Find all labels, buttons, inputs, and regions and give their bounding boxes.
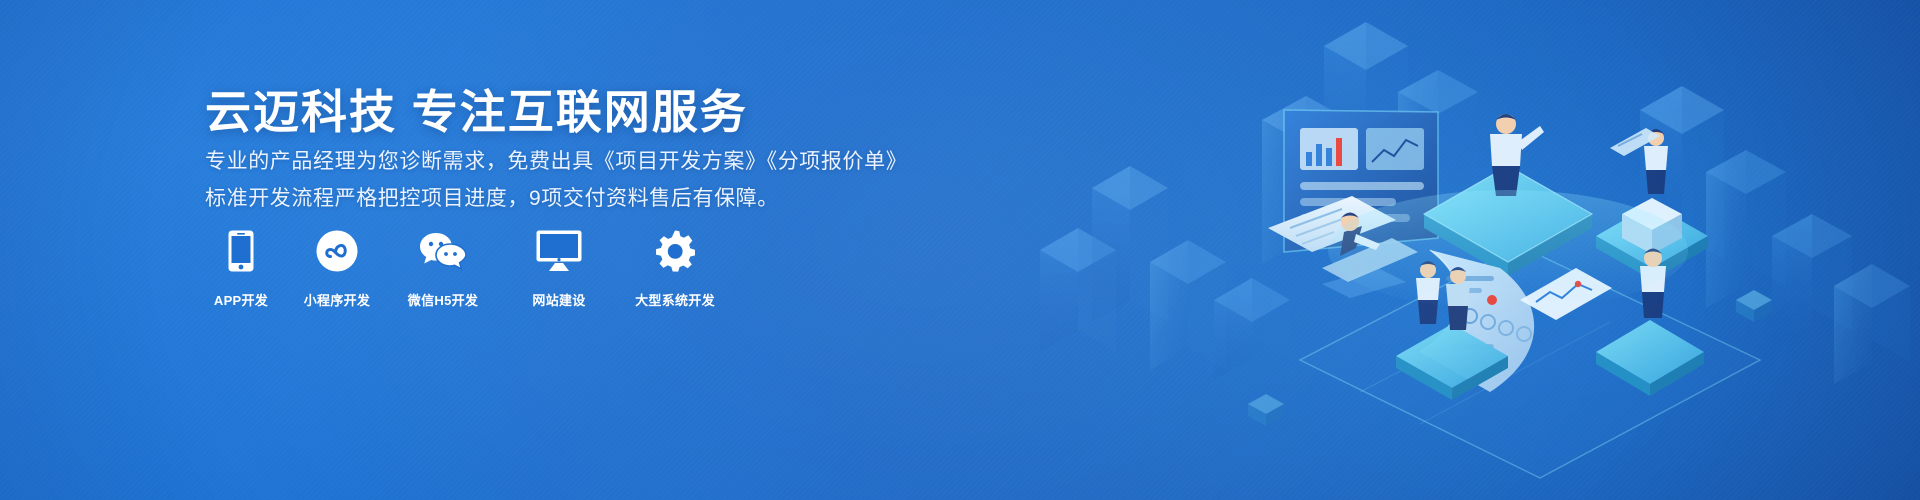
service-label-app: APP开发 [214,290,268,309]
service-label-wechat: 微信H5开发 [408,290,478,309]
desktop-monitor-icon [536,228,582,274]
hero-content: 云迈科技 专注互联网服务 专业的产品经理为您诊断需求，免费出具《项目开发方案》《… [205,0,1105,500]
service-label-system: 大型系统开发 [635,290,715,309]
service-item-website[interactable]: 网站建设 [513,228,605,309]
gear-icon [654,228,696,274]
mini-program-icon [316,228,358,274]
hero-headline: 云迈科技 专注互联网服务 [205,76,748,142]
service-item-miniprogram[interactable]: 小程序开发 [301,228,373,309]
service-item-system[interactable]: 大型系统开发 [629,228,721,309]
service-item-app[interactable]: APP开发 [205,228,277,309]
hero-subtitle-line-2: 标准开发流程严格把控项目进度，9项交付资料售后有保障。 [205,182,779,212]
service-item-wechat[interactable]: 微信H5开发 [397,228,489,309]
hero-banner: 云迈科技 专注互联网服务 专业的产品经理为您诊断需求，免费出具《项目开发方案》《… [0,0,1920,500]
wechat-bubbles-icon [419,228,467,274]
service-label-miniprogram: 小程序开发 [304,290,371,309]
hero-subtitle-line-1: 专业的产品经理为您诊断需求，免费出具《项目开发方案》《分项报价单》 [205,145,907,175]
service-label-website: 网站建设 [532,290,585,309]
service-list: APP开发 小程序开发 [205,228,745,309]
mobile-phone-icon [228,228,254,274]
glow-accents [1328,190,1688,310]
illustration-container [1000,0,1920,500]
isometric-business-analytics-illustration [1000,0,1920,500]
